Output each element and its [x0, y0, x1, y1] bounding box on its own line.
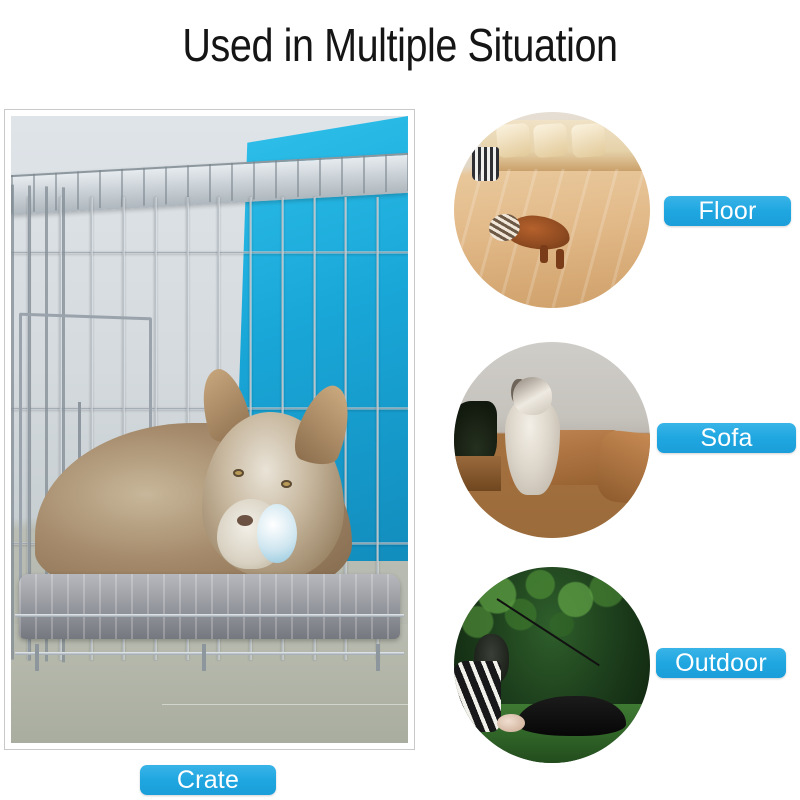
crate-front-rail-lower: [15, 652, 404, 655]
floor-scene-cushion: [570, 123, 606, 159]
wire-crate: [11, 154, 408, 693]
badge-outdoor[interactable]: Outdoor: [656, 648, 786, 678]
crate-foot: [376, 644, 380, 671]
crate-horizontal-wire: [11, 251, 408, 254]
outdoor-scene-person: [454, 661, 501, 732]
crate-foot: [35, 644, 39, 671]
blue-toy: [257, 504, 297, 563]
floor-scene-cushion: [533, 123, 569, 159]
thumbnail-floor[interactable]: [454, 112, 650, 308]
crate-top-bars: [11, 153, 408, 213]
dog-nose: [237, 515, 253, 526]
badge-crate[interactable]: Crate: [140, 765, 276, 795]
crate-mat: [19, 574, 400, 639]
sofa-scene-dog-head: [513, 377, 552, 414]
sofa-scene-armrest: [596, 429, 650, 505]
badge-sofa[interactable]: Sofa: [657, 423, 796, 453]
crate-foot: [202, 644, 206, 671]
dog-ear-right: [287, 380, 361, 473]
thumbnail-sofa[interactable]: [454, 342, 650, 538]
badge-floor[interactable]: Floor: [664, 196, 791, 226]
floor-scene-dog-leg: [556, 249, 564, 269]
crate-front-rail-upper: [15, 614, 404, 617]
floor-scene-cushion: [496, 123, 532, 159]
dog-eye-right: [281, 480, 292, 488]
crate-image-frame: [4, 109, 415, 750]
crate-mat-quilting: [19, 574, 400, 639]
crate-photo: [11, 116, 408, 743]
page-title: Used in Multiple Situation: [56, 18, 744, 72]
floor-scene-dog-leg: [540, 245, 548, 263]
crate-floor-seam: [162, 704, 408, 705]
thumbnail-outdoor[interactable]: [454, 567, 650, 763]
outdoor-scene-hand: [497, 714, 524, 732]
sofa-scene-planter: [454, 456, 501, 491]
